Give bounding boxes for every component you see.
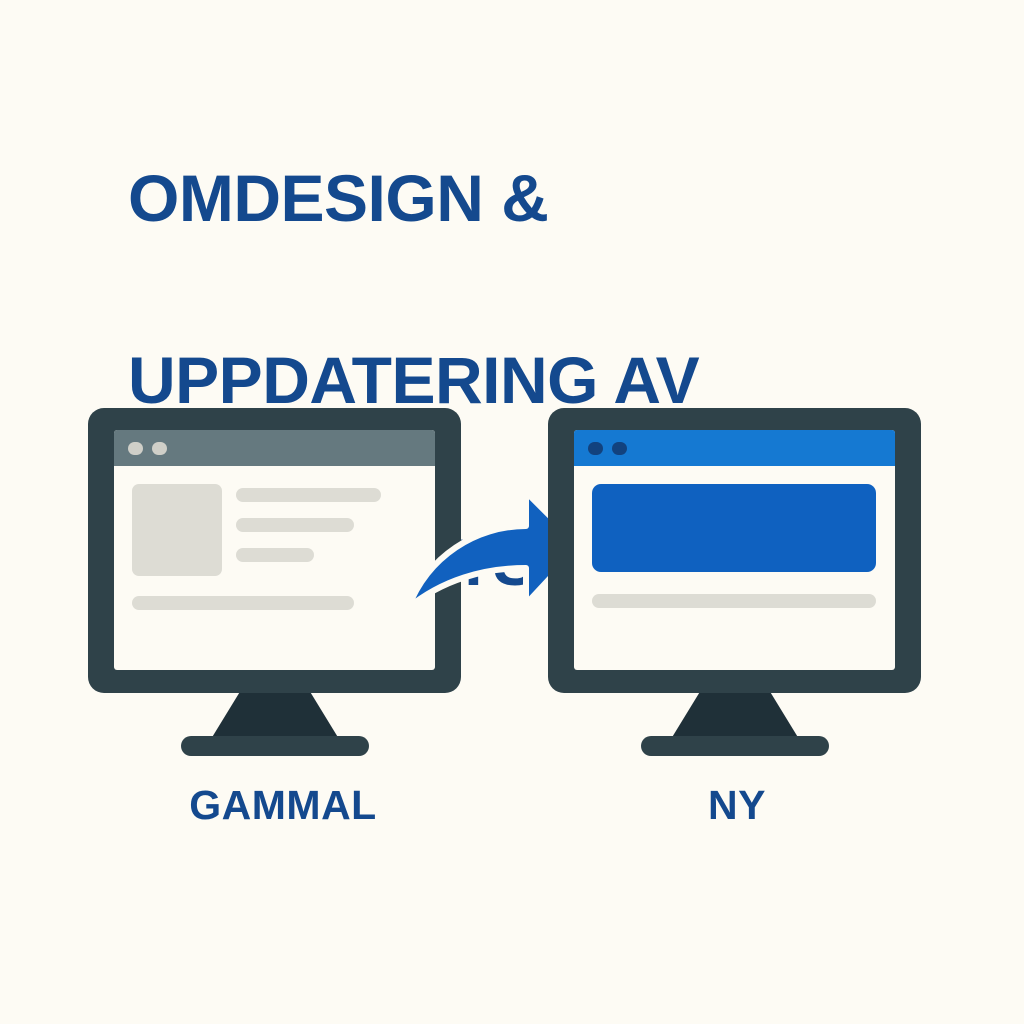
- page-content-old: [114, 466, 435, 670]
- hero-banner-block: [592, 484, 876, 572]
- caption-new: NY: [548, 782, 926, 829]
- screen-new: [574, 430, 895, 670]
- browser-bar-new: [574, 430, 895, 466]
- browser-dot-icon-1: [128, 442, 143, 455]
- poster-canvas: OMDESIGN & UPPDATERING AV WEBBPLATS: [0, 0, 1024, 1024]
- page-title-line-1: OMDESIGN &: [128, 153, 918, 244]
- browser-dot-icon-2: [612, 442, 627, 455]
- caption-old: GAMMAL: [88, 782, 478, 829]
- page-content-new: [574, 466, 895, 670]
- browser-dot-icon-2: [152, 442, 167, 455]
- monitor-new: [548, 408, 921, 758]
- monitor-stand-base-old: [181, 736, 369, 756]
- browser-dot-icon-1: [588, 442, 603, 455]
- monitor-bezel-new: [548, 408, 921, 693]
- monitor-stand-neck-new: [671, 693, 799, 739]
- image-placeholder-block: [132, 484, 222, 576]
- screen-old: [114, 430, 435, 670]
- text-line-block-1: [592, 594, 876, 608]
- text-line-block-1: [236, 488, 381, 502]
- text-line-block-4: [132, 596, 354, 610]
- browser-bar-old: [114, 430, 435, 466]
- text-line-block-3: [236, 548, 314, 562]
- text-line-block-2: [236, 518, 354, 532]
- monitor-stand-neck-old: [211, 693, 339, 739]
- monitor-stand-base-new: [641, 736, 829, 756]
